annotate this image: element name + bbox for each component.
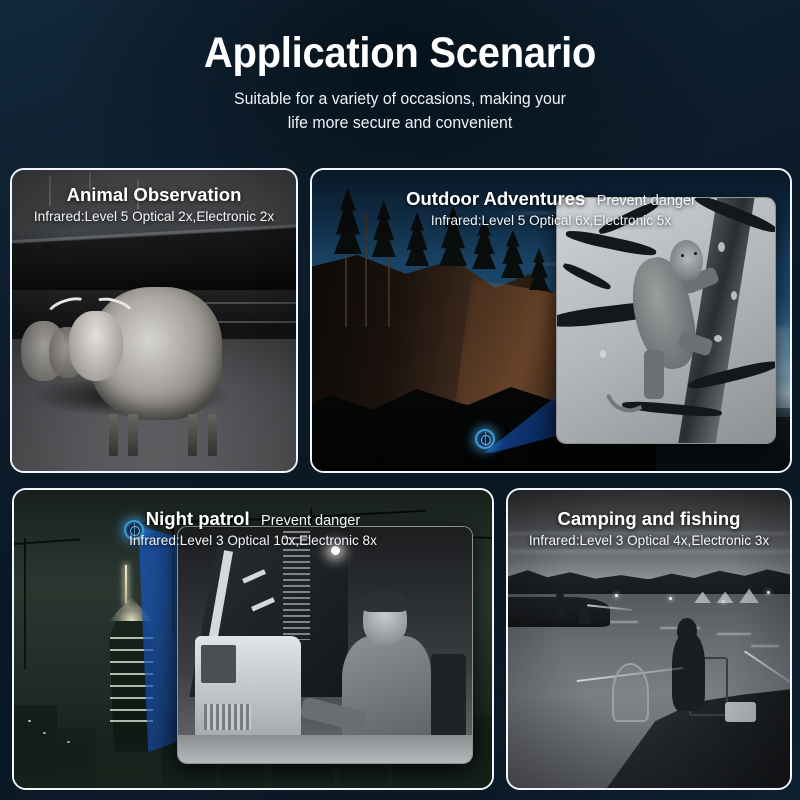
scenario-card-grid: Animal Observation Infrared:Level 5 Opti… [0, 0, 800, 800]
application-scenario-page: Application Scenario Suitable for a vari… [0, 0, 800, 800]
zoom-inset-monkey [556, 197, 776, 444]
zoom-inset-crane-operator [177, 526, 473, 764]
lens-target-icon[interactable] [124, 520, 144, 540]
scenario-card-night-patrol[interactable]: Night patrol Prevent danger Infrared:Lev… [12, 488, 494, 790]
scene-lake-fishing-dusk [508, 490, 790, 788]
scene-cattle-under-bridge [12, 170, 296, 471]
scenario-card-outdoor-adventures[interactable]: Outdoor Adventures Prevent danger Infrar… [310, 168, 792, 473]
scenario-card-animal-observation[interactable]: Animal Observation Infrared:Level 5 Opti… [10, 168, 298, 473]
lens-target-icon[interactable] [475, 429, 495, 449]
scenario-card-camping-and-fishing[interactable]: Camping and fishing Infrared:Level 3 Opt… [506, 488, 792, 790]
